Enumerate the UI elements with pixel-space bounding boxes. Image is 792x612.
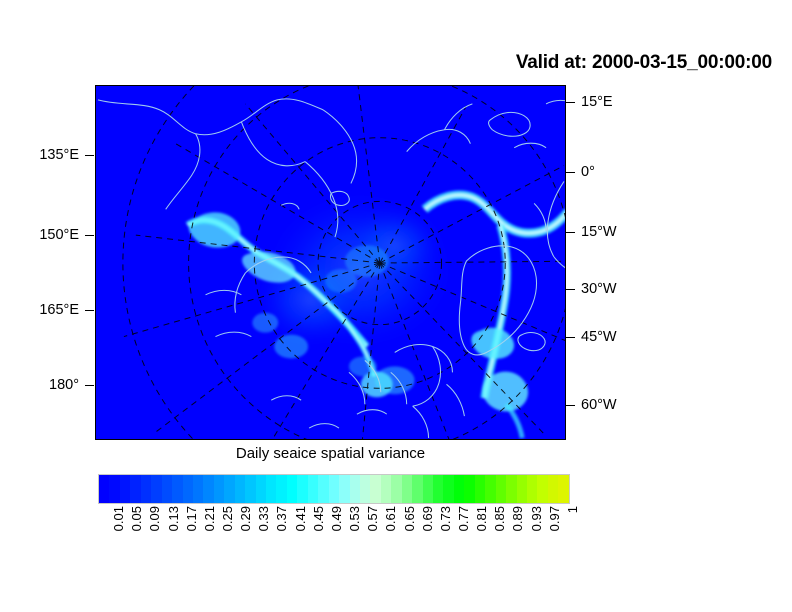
map-caption: Daily seaice spatial variance [95, 445, 566, 462]
colorbar-label: 0.13 [167, 506, 180, 531]
colorbar-cell [141, 475, 151, 503]
axis-tick-left-3 [85, 385, 94, 387]
colorbar-cell [527, 475, 537, 503]
colorbar-cell [214, 475, 224, 503]
colorbar-cell [308, 475, 318, 503]
colorbar-cell [99, 475, 109, 503]
colorbar-label: 0.85 [493, 506, 506, 531]
colorbar-label: 0.21 [203, 506, 216, 531]
colorbar-cell [256, 475, 266, 503]
colorbar-label: 0.65 [403, 506, 416, 531]
colorbar-label: 0.17 [185, 506, 198, 531]
colorbar-cell [391, 475, 401, 503]
axis-label-right-5: 60°W [581, 398, 617, 413]
colorbar-label: 0.37 [275, 506, 288, 531]
colorbar-cell [172, 475, 182, 503]
colorbar-tick-labels: 0.010.050.090.130.170.210.250.290.330.37… [98, 506, 570, 566]
colorbar[interactable] [98, 474, 570, 504]
colorbar-label: 0.45 [312, 506, 325, 531]
colorbar-cell [548, 475, 558, 503]
axis-label-left-3: 180° [0, 378, 79, 393]
colorbar-cell [433, 475, 443, 503]
colorbar-cell [412, 475, 422, 503]
colorbar-cell [485, 475, 495, 503]
colorbar-label: 0.93 [530, 506, 543, 531]
axis-tick-left-1 [85, 235, 94, 237]
axis-tick-right-4 [566, 337, 575, 339]
colorbar-cell [558, 475, 568, 503]
colorbar-cell [339, 475, 349, 503]
colorbar-cell [350, 475, 360, 503]
axis-label-right-0: 15°E [581, 95, 613, 110]
colorbar-cell [151, 475, 161, 503]
axis-label-right-3: 30°W [581, 282, 617, 297]
colorbar-label: 0.57 [366, 506, 379, 531]
colorbar-cell [276, 475, 286, 503]
colorbar-label: 0.09 [148, 506, 161, 531]
colorbar-cell [235, 475, 245, 503]
colorbar-cell [203, 475, 213, 503]
axis-label-right-1: 0° [581, 165, 595, 180]
colorbar-cell [475, 475, 485, 503]
colorbar-label: 0.77 [457, 506, 470, 531]
colorbar-cell [496, 475, 506, 503]
colorbar-cell [183, 475, 193, 503]
colorbar-label: 0.05 [130, 506, 143, 531]
colorbar-cell [162, 475, 172, 503]
colorbar-label: 0.81 [475, 506, 488, 531]
colorbar-cell [130, 475, 140, 503]
colorbar-label: 0.41 [294, 506, 307, 531]
map-plot-area [95, 85, 566, 440]
axis-tick-right-3 [566, 289, 575, 291]
colorbar-label: 0.69 [421, 506, 434, 531]
axis-tick-right-2 [566, 232, 575, 234]
colorbar-label: 1 [566, 506, 579, 513]
colorbar-label: 0.01 [112, 506, 125, 531]
colorbar-cell [443, 475, 453, 503]
map-canvas [96, 86, 565, 439]
colorbar-cell [120, 475, 130, 503]
colorbar-cell [297, 475, 307, 503]
colorbar-cell [109, 475, 119, 503]
colorbar-cell [381, 475, 391, 503]
colorbar-label: 0.97 [548, 506, 561, 531]
colorbar-gradient[interactable] [98, 474, 570, 504]
axis-tick-left-0 [85, 155, 94, 157]
colorbar-cell [193, 475, 203, 503]
colorbar-cell [464, 475, 474, 503]
colorbar-cell [423, 475, 433, 503]
colorbar-cell [266, 475, 276, 503]
colorbar-label: 0.49 [330, 506, 343, 531]
axis-label-left-0: 135°E [0, 148, 79, 163]
colorbar-cell [245, 475, 255, 503]
colorbar-cell [454, 475, 464, 503]
axis-tick-right-1 [566, 172, 575, 174]
colorbar-label: 0.61 [384, 506, 397, 531]
axis-label-left-2: 165°E [0, 303, 79, 318]
colorbar-label: 0.73 [439, 506, 452, 531]
colorbar-cell [224, 475, 234, 503]
colorbar-cell [506, 475, 516, 503]
axis-tick-right-5 [566, 405, 575, 407]
colorbar-label: 0.53 [348, 506, 361, 531]
axis-label-right-2: 15°W [581, 225, 617, 240]
colorbar-cell [287, 475, 297, 503]
colorbar-label: 0.25 [221, 506, 234, 531]
colorbar-cell [360, 475, 370, 503]
colorbar-cell [517, 475, 527, 503]
axis-label-right-4: 45°W [581, 330, 617, 345]
colorbar-cell [318, 475, 328, 503]
colorbar-label: 0.33 [257, 506, 270, 531]
axis-tick-left-2 [85, 310, 94, 312]
colorbar-label: 0.89 [511, 506, 524, 531]
colorbar-cell [402, 475, 412, 503]
colorbar-cell [537, 475, 547, 503]
page-title: Valid at: 2000-03-15_00:00:00 [0, 52, 772, 74]
axis-tick-right-0 [566, 102, 575, 104]
colorbar-cell [370, 475, 380, 503]
colorbar-cell [329, 475, 339, 503]
axis-label-left-1: 150°E [0, 228, 79, 243]
colorbar-label: 0.29 [239, 506, 252, 531]
